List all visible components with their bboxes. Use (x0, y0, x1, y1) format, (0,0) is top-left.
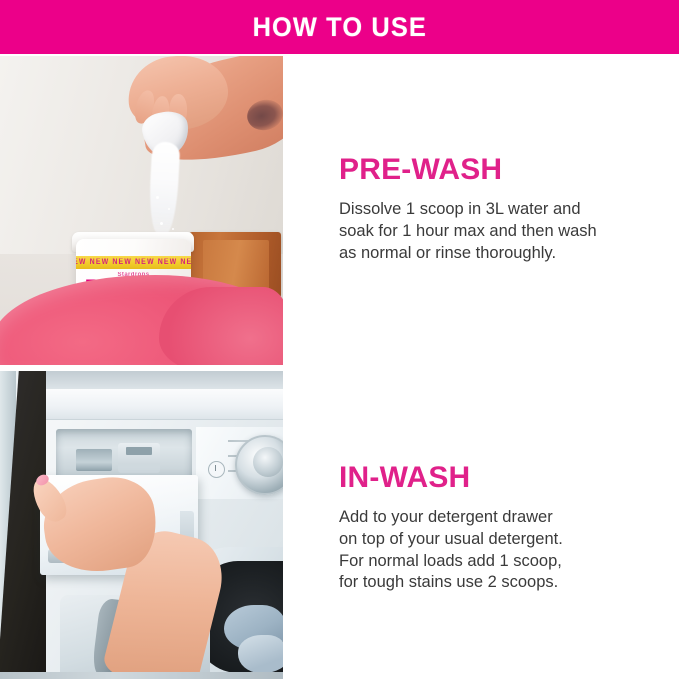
program-dial-inner (253, 447, 283, 477)
drawer-compartment-slot (126, 447, 152, 455)
photo-washing-machine-drawer (0, 371, 283, 679)
in-wash-heading: IN-WASH (339, 463, 679, 493)
laundry-item (238, 635, 283, 673)
in-wash-photo (0, 371, 283, 679)
pre-wash-body: Dissolve 1 scoop in 3L water and soak fo… (339, 199, 649, 264)
power-button-icon (208, 461, 225, 478)
pink-fabric-right (159, 287, 283, 365)
page-title: HOW TO USE (252, 14, 426, 41)
in-wash-body: Add to your detergent drawer on top of y… (339, 507, 649, 594)
pre-wash-heading: PRE-WASH (339, 155, 679, 185)
new-banner-text: NEW NEW NEW NEW NEW NEW (76, 259, 191, 267)
drawer-compartment (76, 449, 112, 471)
new-banner: NEW NEW NEW NEW NEW NEW (76, 256, 191, 269)
floor-strip (0, 672, 283, 679)
machine-top-shadow (46, 371, 283, 391)
photo-pouring-powder: NEW NEW NEW NEW NEW NEW Stardrops THE PI… (0, 56, 283, 365)
in-wash-text-block: IN-WASH Add to your detergent drawer on … (283, 463, 679, 594)
powder-grain (156, 196, 159, 199)
powder-grain (160, 222, 163, 225)
machine-top-lip (46, 389, 283, 420)
powder-grain (172, 228, 174, 230)
pre-wash-photo: NEW NEW NEW NEW NEW NEW Stardrops THE PI… (0, 56, 283, 365)
header-bar: HOW TO USE (0, 0, 679, 54)
powder-grain (168, 208, 170, 210)
pre-wash-text-block: PRE-WASH Dissolve 1 scoop in 3L water an… (283, 155, 679, 264)
